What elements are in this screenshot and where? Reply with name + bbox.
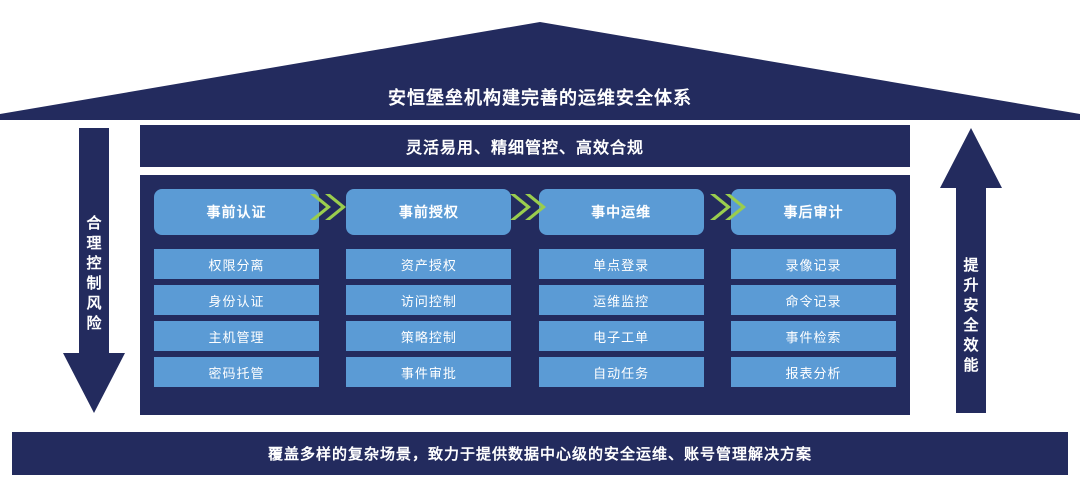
list-item[interactable]: 密码托管 — [154, 357, 319, 387]
right-arrow-char-2: 安 — [940, 296, 1002, 316]
bottom-banner: 覆盖多样的复杂场景，致力于提供数据中心级的安全运维、账号管理解决方案 — [12, 432, 1068, 475]
double-chevron-right-icon — [308, 192, 348, 222]
list-item[interactable]: 电子工单 — [539, 321, 704, 351]
phase-button-2[interactable]: 事前授权 — [346, 189, 511, 235]
phase-button-3[interactable]: 事中运维 — [539, 189, 704, 235]
right-up-arrow: 提 升 安 全 效 能 — [940, 128, 1002, 413]
list-item[interactable]: 主机管理 — [154, 321, 319, 351]
list-item[interactable]: 报表分析 — [731, 357, 896, 387]
list-item[interactable]: 运维监控 — [539, 285, 704, 315]
right-arrow-char-5: 能 — [940, 356, 1002, 376]
subtitle-text: 灵活易用、精细管控、高效合规 — [406, 134, 644, 158]
phase-column-1: 事前认证 权限分离 身份认证 主机管理 密码托管 — [154, 189, 319, 401]
right-arrow-char-1: 升 — [940, 276, 1002, 296]
list-item[interactable]: 权限分离 — [154, 249, 319, 279]
list-item[interactable]: 自动任务 — [539, 357, 704, 387]
list-item[interactable]: 事件审批 — [346, 357, 511, 387]
right-arrow-label: 提 升 安 全 效 能 — [940, 256, 1002, 376]
phase-column-2: 事前授权 资产授权 访问控制 策略控制 事件审批 — [346, 189, 511, 401]
left-arrow-char-4: 风 — [63, 294, 125, 314]
right-arrow-char-4: 效 — [940, 336, 1002, 356]
list-item[interactable]: 事件检索 — [731, 321, 896, 351]
double-chevron-right-icon — [508, 192, 548, 222]
list-item[interactable]: 命令记录 — [731, 285, 896, 315]
left-arrow-char-1: 理 — [63, 234, 125, 254]
right-arrow-char-0: 提 — [940, 256, 1002, 276]
list-item[interactable]: 资产授权 — [346, 249, 511, 279]
phase-button-4[interactable]: 事后审计 — [731, 189, 896, 235]
page-title: 安恒堡垒机构建完善的运维安全体系 — [0, 84, 1080, 110]
subtitle-band: 灵活易用、精细管控、高效合规 — [140, 125, 910, 167]
left-arrow-char-0: 合 — [63, 214, 125, 234]
left-arrow-char-5: 险 — [63, 314, 125, 334]
list-item[interactable]: 单点登录 — [539, 249, 704, 279]
left-arrow-char-3: 制 — [63, 274, 125, 294]
list-item[interactable]: 策略控制 — [346, 321, 511, 351]
phase-column-4: 事后审计 录像记录 命令记录 事件检索 报表分析 — [731, 189, 896, 401]
left-arrow-char-2: 控 — [63, 254, 125, 274]
list-item[interactable]: 访问控制 — [346, 285, 511, 315]
right-arrow-char-3: 全 — [940, 316, 1002, 336]
phase-button-1[interactable]: 事前认证 — [154, 189, 319, 235]
bottom-banner-text: 覆盖多样的复杂场景，致力于提供数据中心级的安全运维、账号管理解决方案 — [268, 443, 812, 464]
list-item[interactable]: 录像记录 — [731, 249, 896, 279]
list-item[interactable]: 身份认证 — [154, 285, 319, 315]
left-down-arrow: 合 理 控 制 风 险 — [63, 128, 125, 413]
double-chevron-right-icon — [708, 192, 748, 222]
phase-column-3: 事中运维 单点登录 运维监控 电子工单 自动任务 — [539, 189, 704, 401]
diagram-canvas: 安恒堡垒机构建完善的运维安全体系 灵活易用、精细管控、高效合规 合 理 控 制 … — [0, 0, 1080, 485]
left-arrow-label: 合 理 控 制 风 险 — [63, 214, 125, 334]
